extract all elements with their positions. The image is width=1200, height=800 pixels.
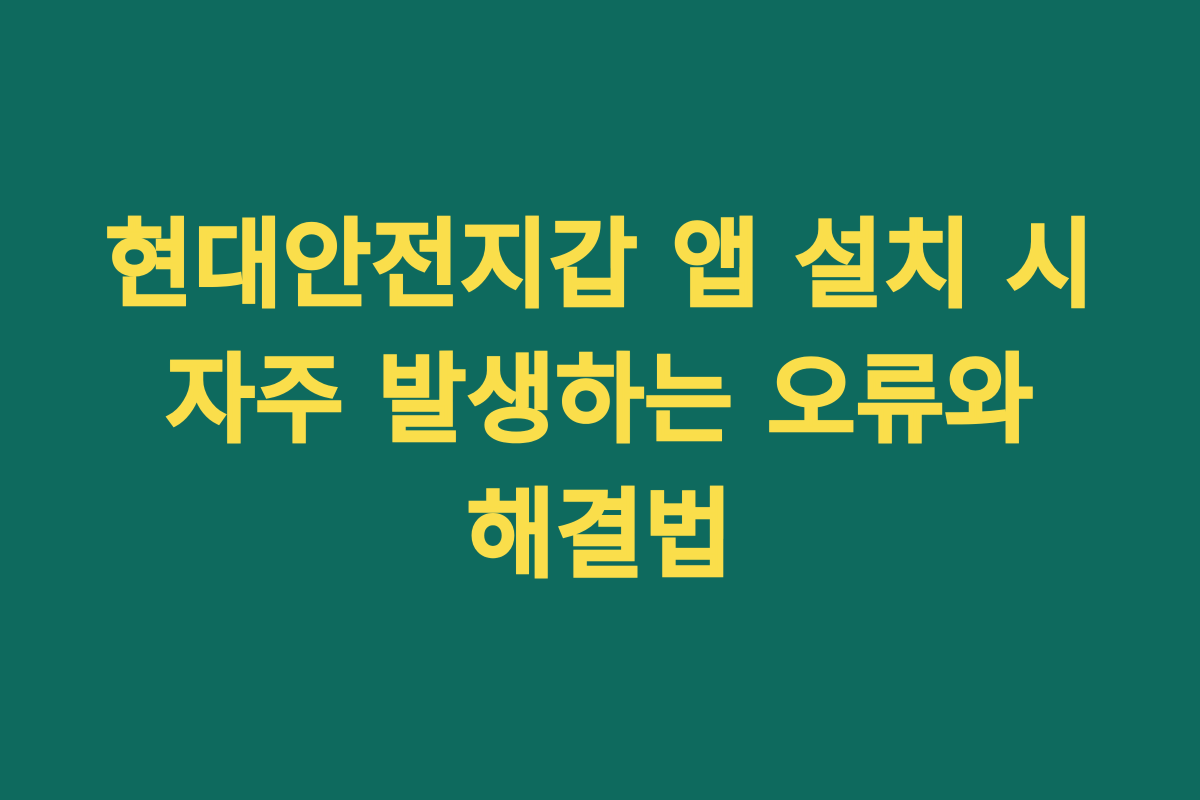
headline-line-3: 해결법 <box>40 468 1160 603</box>
title-card: 현대안전지갑 앱 설치 시 자주 발생하는 오류와 해결법 <box>0 0 1200 800</box>
headline-text: 현대안전지갑 앱 설치 시 자주 발생하는 오류와 해결법 <box>40 198 1160 603</box>
headline-line-2: 자주 발생하는 오류와 <box>40 333 1160 468</box>
headline-line-1: 현대안전지갑 앱 설치 시 <box>40 198 1160 333</box>
